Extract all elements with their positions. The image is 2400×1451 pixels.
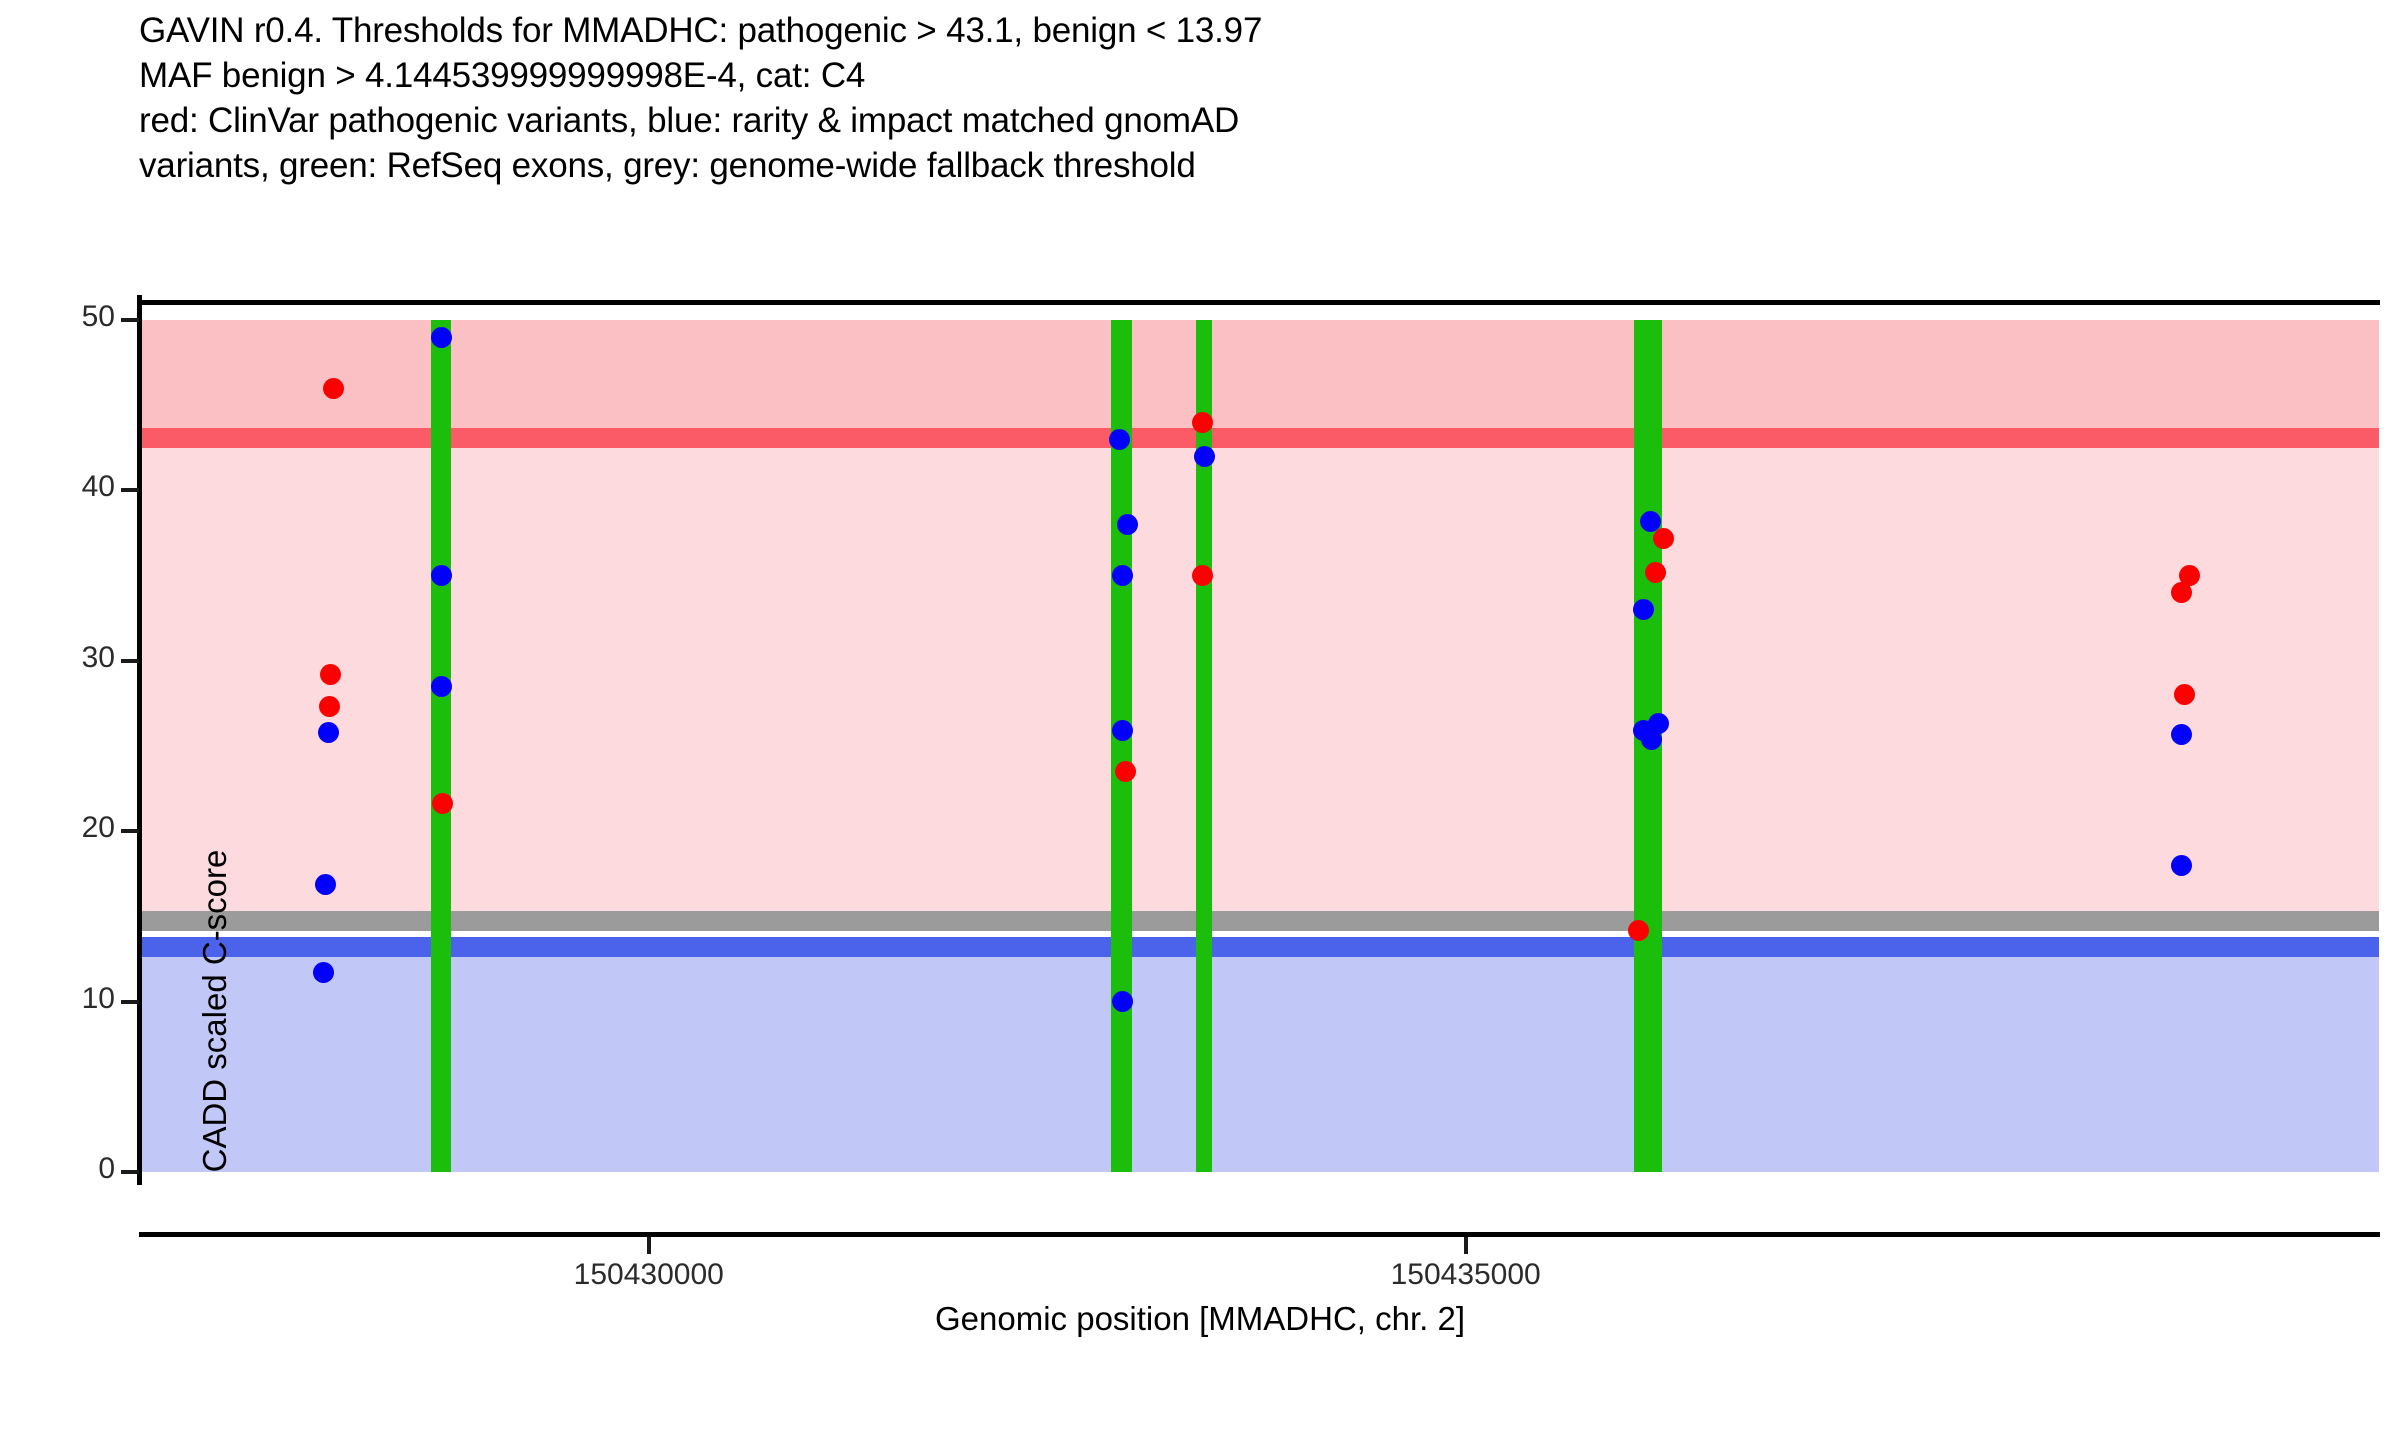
data-point-blue xyxy=(318,722,339,743)
axis-left-rule xyxy=(137,295,142,1185)
plot-data-area xyxy=(139,302,2379,1180)
benign-region-band xyxy=(139,957,2379,1172)
plot-panel: CADD scaled C-score xyxy=(139,302,2379,1180)
data-point-blue xyxy=(1117,514,1138,535)
data-point-red xyxy=(1628,920,1649,941)
data-point-blue xyxy=(1640,511,1661,532)
y-tick-mark xyxy=(121,829,139,833)
data-point-blue xyxy=(1194,446,1215,467)
data-point-blue xyxy=(1109,429,1130,450)
y-tick-label: 10 xyxy=(0,982,115,1016)
y-tick-label: 0 xyxy=(0,1152,115,1186)
axis-top-rule xyxy=(139,300,2380,305)
vous-region-band xyxy=(139,448,2379,912)
y-tick-label: 50 xyxy=(0,300,115,334)
x-axis-title: Genomic position [MMADHC, chr. 2] xyxy=(0,1300,2400,1338)
title-line-3: red: ClinVar pathogenic variants, blue: … xyxy=(139,98,2379,143)
y-tick-mark xyxy=(121,488,139,492)
data-point-blue xyxy=(431,327,452,348)
title-line-2: MAF benign > 4.144539999999998E-4, cat: … xyxy=(139,53,2379,98)
pathogenic-threshold-line xyxy=(139,428,2379,448)
data-point-red xyxy=(319,696,340,717)
x-tick-mark xyxy=(647,1237,651,1254)
data-point-red xyxy=(1192,412,1213,433)
data-point-blue xyxy=(431,565,452,586)
axis-bottom-rule xyxy=(139,1232,2380,1237)
data-point-blue xyxy=(1112,565,1133,586)
data-point-red xyxy=(2171,582,2192,603)
exon-bar-1 xyxy=(431,320,451,1172)
data-point-blue xyxy=(2171,724,2192,745)
data-point-blue xyxy=(1112,991,1133,1012)
y-tick-mark xyxy=(121,1000,139,1004)
data-point-red xyxy=(1645,562,1666,583)
plot-title: GAVIN r0.4. Thresholds for MMADHC: patho… xyxy=(139,8,2379,188)
y-tick-label: 20 xyxy=(0,811,115,845)
benign-threshold-line xyxy=(139,937,2379,957)
x-tick-mark xyxy=(1464,1237,1468,1254)
x-tick-label: 150435000 xyxy=(1316,1258,1616,1292)
data-point-red xyxy=(1653,528,1674,549)
data-point-blue xyxy=(1641,729,1662,750)
data-point-blue xyxy=(431,676,452,697)
data-point-blue xyxy=(315,874,336,895)
y-tick-label: 40 xyxy=(0,470,115,504)
y-tick-mark xyxy=(121,659,139,663)
pathogenic-region-band xyxy=(139,320,2379,428)
y-tick-mark xyxy=(121,1170,139,1174)
y-tick-label: 30 xyxy=(0,641,115,675)
data-point-blue xyxy=(2171,855,2192,876)
x-tick-label: 150430000 xyxy=(499,1258,799,1292)
y-tick-mark xyxy=(121,318,139,322)
chart-root: GAVIN r0.4. Thresholds for MMADHC: patho… xyxy=(0,0,2400,1350)
title-line-4: variants, green: RefSeq exons, grey: gen… xyxy=(139,143,2379,188)
title-line-1: GAVIN r0.4. Thresholds for MMADHC: patho… xyxy=(139,8,2379,53)
data-point-red xyxy=(323,378,344,399)
data-point-red xyxy=(320,664,341,685)
genome-wide-fallback-band xyxy=(139,911,2379,931)
